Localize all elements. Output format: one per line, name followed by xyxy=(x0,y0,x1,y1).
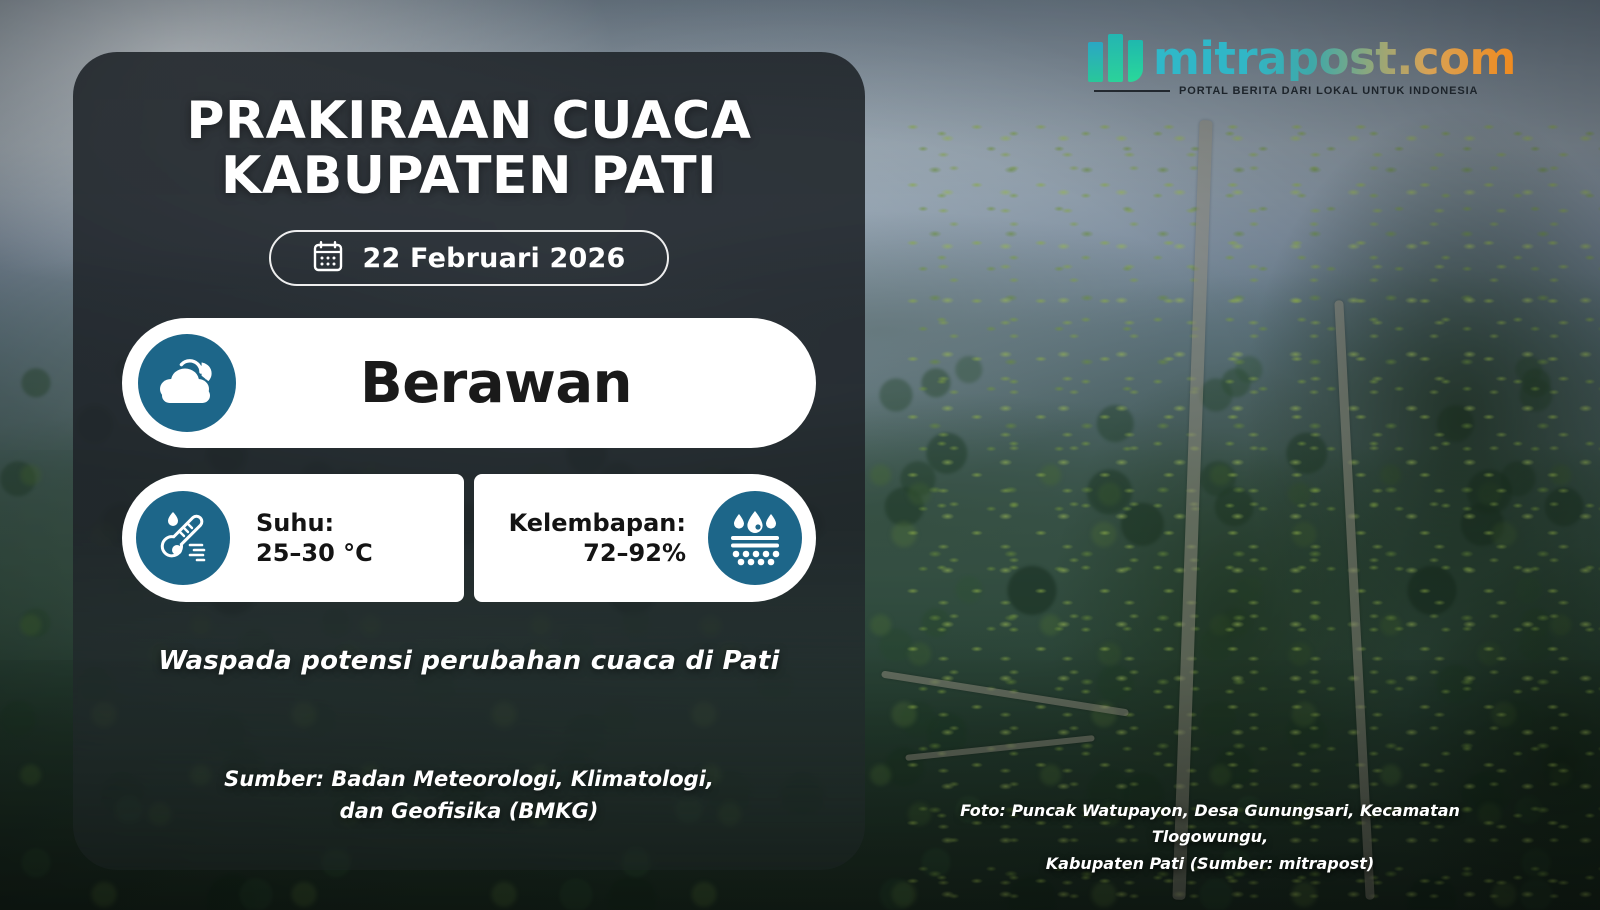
stat-card-humidity: Kelembapan: 72–92% xyxy=(474,474,816,602)
warning-text: Waspada potensi perubahan cuaca di Pati xyxy=(73,646,865,676)
source-line-1: Sumber: Badan Meteorologi, Klimatologi, xyxy=(224,767,714,791)
logo-wordmark: mitrapost.com xyxy=(1153,36,1516,81)
photo-caption-line-2: Kabupaten Pati (Sumber: mitrapost) xyxy=(1046,854,1374,873)
forecast-date: 22 Februari 2026 xyxy=(362,243,625,274)
photo-caption: Foto: Puncak Watupayon, Desa Gunungsari,… xyxy=(900,798,1520,877)
source-attribution: Sumber: Badan Meteorologi, Klimatologi, … xyxy=(73,764,865,827)
humidity-value: 72–92% xyxy=(583,539,686,567)
stats-row: Suhu: 25–30 °C Kelembapan: 72–92% xyxy=(122,474,816,602)
mitrapost-logo[interactable]: mitrapost.com PORTAL BERITA DARI LOKAL U… xyxy=(1088,34,1498,97)
temperature-text: Suhu: 25–30 °C xyxy=(256,508,373,568)
logo-tagline-row: PORTAL BERITA DARI LOKAL UNTUK INDONESIA xyxy=(1094,85,1498,97)
stat-card-temperature: Suhu: 25–30 °C xyxy=(122,474,464,602)
humidity-text: Kelembapan: 72–92% xyxy=(509,508,686,568)
photo-caption-line-1: Foto: Puncak Watupayon, Desa Gunungsari,… xyxy=(960,801,1460,846)
cloud-icon xyxy=(138,334,236,432)
humidity-label: Kelembapan: xyxy=(509,509,686,537)
calendar-icon xyxy=(312,239,344,278)
temperature-value: 25–30 °C xyxy=(256,539,373,567)
title-line-2: KABUPATEN PATI xyxy=(221,146,717,206)
weather-condition-label: Berawan xyxy=(236,351,816,416)
weather-condition-card: Berawan xyxy=(122,318,816,448)
temperature-label: Suhu: xyxy=(256,509,334,537)
title-line-1: PRAKIRAAN CUACA xyxy=(186,91,751,151)
date-badge[interactable]: 22 Februari 2026 xyxy=(269,230,669,286)
logo-tagline: PORTAL BERITA DARI LOKAL UNTUK INDONESIA xyxy=(1179,85,1478,97)
source-line-2: dan Geofisika (BMKG) xyxy=(340,799,599,823)
humidity-icon xyxy=(708,491,802,585)
logo-divider xyxy=(1094,90,1170,92)
logo-row: mitrapost.com xyxy=(1088,34,1498,82)
infographic-canvas: mitrapost.com PORTAL BERITA DARI LOKAL U… xyxy=(0,0,1600,910)
page-title: PRAKIRAAN CUACA KABUPATEN PATI xyxy=(73,94,865,204)
mitrapost-bars-icon xyxy=(1088,34,1143,82)
thermometer-icon xyxy=(136,491,230,585)
weather-card-panel: PRAKIRAAN CUACA KABUPATEN PATI xyxy=(73,52,865,870)
